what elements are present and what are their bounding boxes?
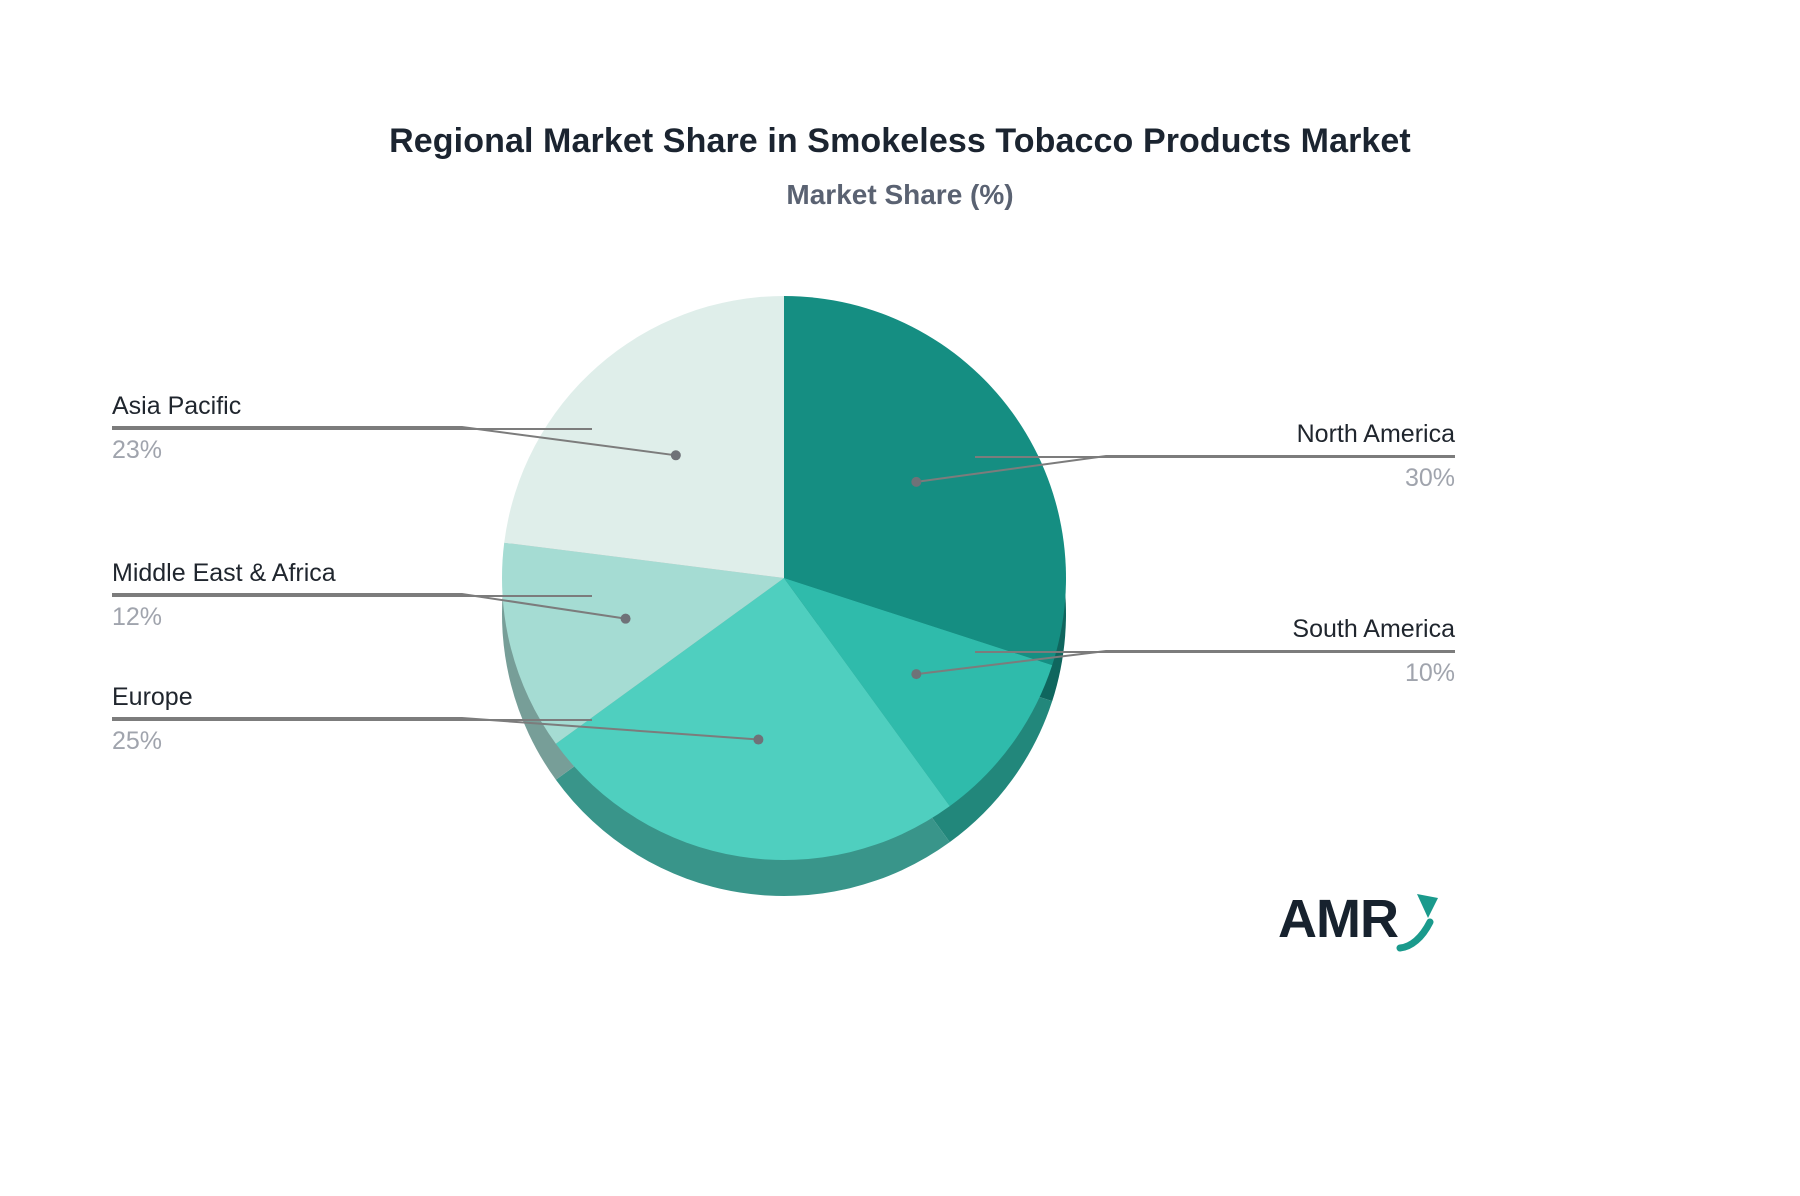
callout-rule [112,595,592,597]
leader-dot-icon [671,450,681,460]
callout-rule [975,651,1455,653]
callout-south-america[interactable]: South America 10% [975,615,1455,688]
callout-north-america[interactable]: North America 30% [975,420,1455,493]
callout-label-europe: Europe [112,683,592,712]
leader-dot-icon [753,735,763,745]
amr-logo: AMR [1278,888,1448,960]
callout-value-south-america: 10% [975,659,1455,688]
callout-rule [112,428,592,430]
callout-value-asia-pacific: 23% [112,436,592,465]
callout-asia-pacific[interactable]: Asia Pacific 23% [112,392,592,465]
leader-dot-icon [621,614,631,624]
callout-value-north-america: 30% [975,464,1455,493]
callout-europe[interactable]: Europe 25% [112,683,592,756]
callout-value-middle-east-africa: 12% [112,603,592,632]
callout-label-middle-east-africa: Middle East & Africa [112,559,592,588]
callout-rule [112,719,592,721]
amr-logo-arrow-icon [1278,888,1448,960]
callout-middle-east-africa[interactable]: Middle East & Africa 12% [112,559,592,632]
callout-label-south-america: South America [975,615,1455,644]
leader-dot-icon [911,477,921,487]
callout-rule [975,456,1455,458]
callout-label-north-america: North America [975,420,1455,449]
chart-canvas: Regional Market Share in Smokeless Tobac… [0,0,1800,1196]
callout-value-europe: 25% [112,727,592,756]
callout-label-asia-pacific: Asia Pacific [112,392,592,421]
leader-dot-icon [911,669,921,679]
